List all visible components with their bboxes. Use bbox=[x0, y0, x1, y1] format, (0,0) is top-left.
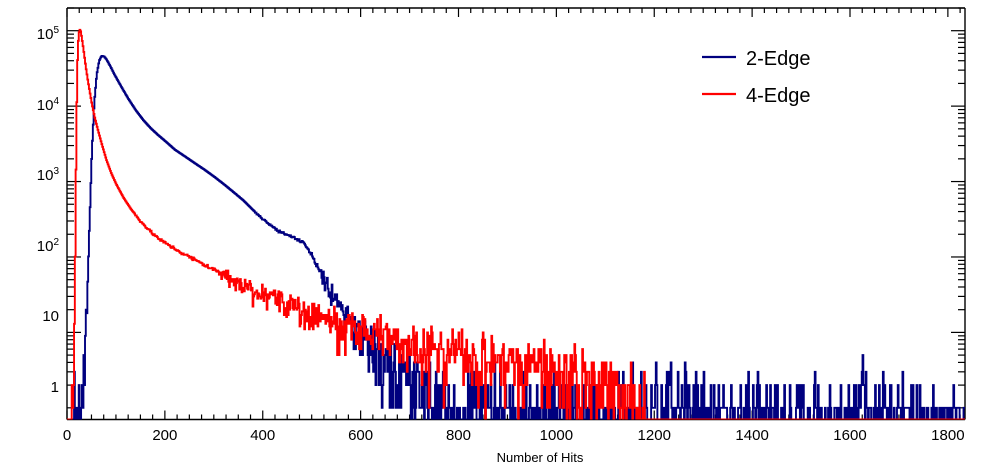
chart-root: 020040060080010001200140016001800 1 10 1… bbox=[0, 0, 996, 472]
x-tick-label-1000: 1000 bbox=[540, 427, 573, 444]
x-tick-label-800: 800 bbox=[446, 427, 471, 444]
plot-background bbox=[0, 0, 996, 472]
histogram-plot: 020040060080010001200140016001800 1 10 1… bbox=[0, 0, 996, 472]
x-tick-label-1600: 1600 bbox=[833, 427, 866, 444]
legend-label-4-edge: 4-Edge bbox=[746, 85, 811, 107]
legend-label-2-edge: 2-Edge bbox=[746, 48, 811, 70]
y-tick-label-10: 10 bbox=[42, 308, 59, 325]
x-tick-label-1800: 1800 bbox=[931, 427, 964, 444]
x-tick-label-200: 200 bbox=[152, 427, 177, 444]
x-tick-label-600: 600 bbox=[348, 427, 373, 444]
x-axis-title: Number of Hits bbox=[497, 450, 584, 465]
y-tick-label-1: 1 bbox=[51, 379, 59, 396]
x-tick-label-1200: 1200 bbox=[638, 427, 671, 444]
x-tick-label-400: 400 bbox=[250, 427, 275, 444]
x-tick-label-1400: 1400 bbox=[735, 427, 768, 444]
x-tick-label-0: 0 bbox=[63, 427, 71, 444]
